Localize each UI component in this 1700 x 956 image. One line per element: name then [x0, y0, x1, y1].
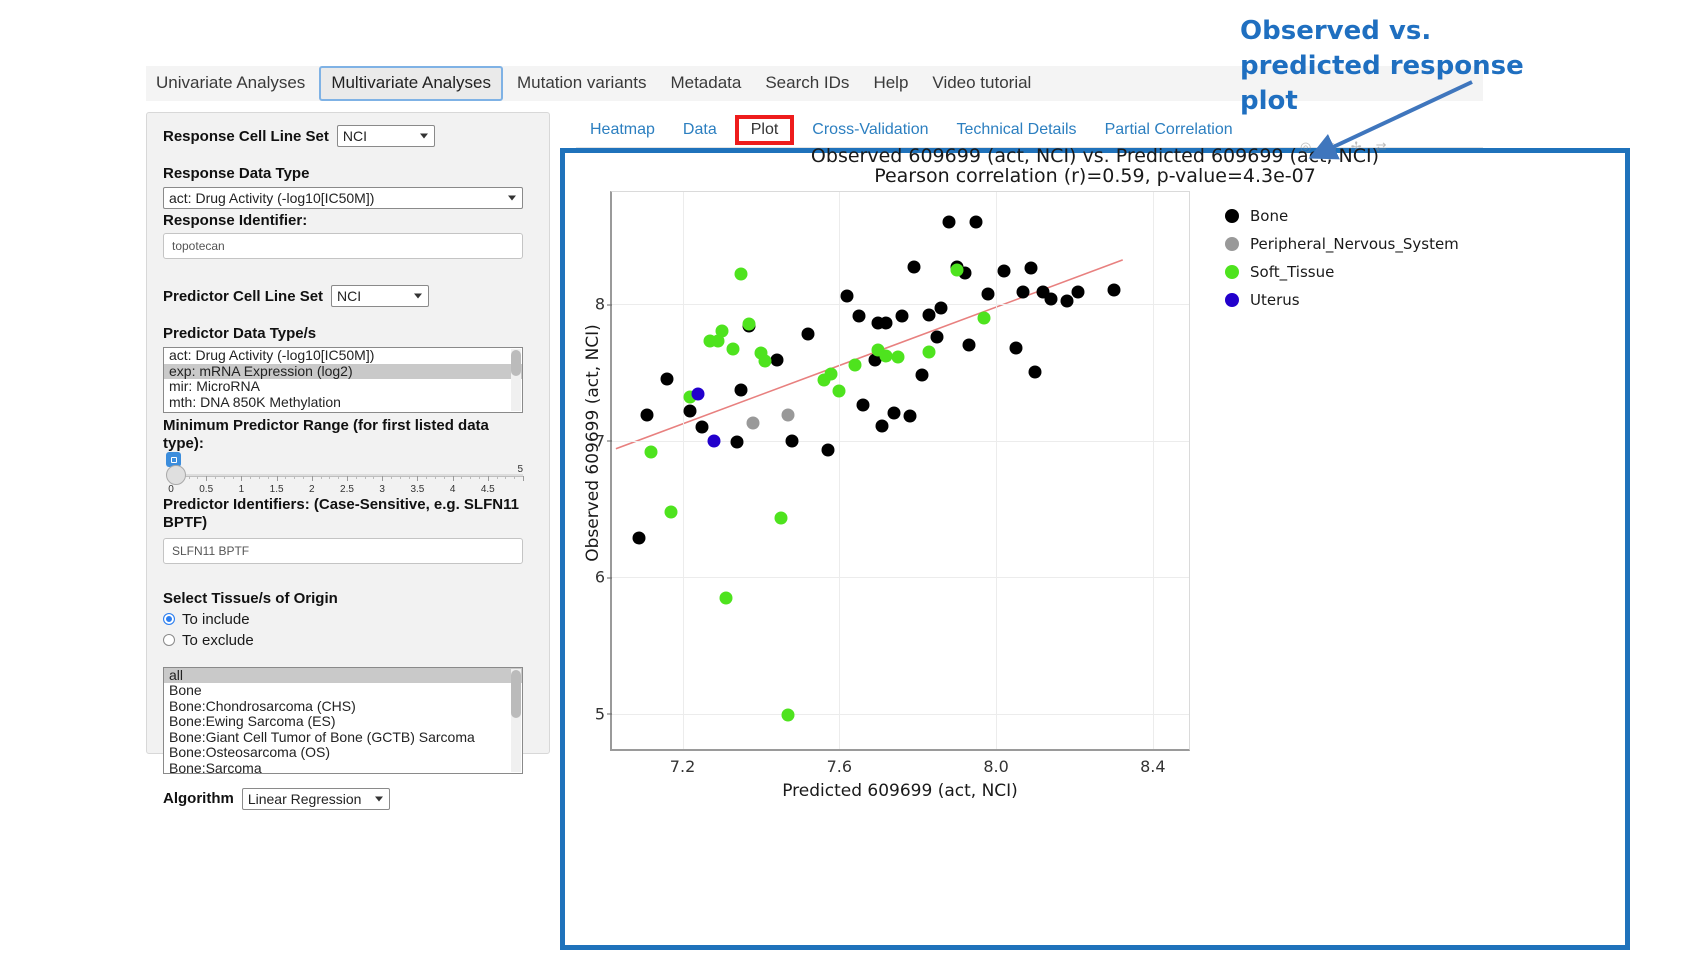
slider-minor-tick [461, 476, 462, 479]
legend-marker-icon [1225, 237, 1239, 251]
slider-minor-tick [514, 476, 515, 479]
subtab-heatmap[interactable]: Heatmap [576, 118, 669, 142]
slider-minor-tick [215, 476, 216, 479]
tissue-option[interactable]: Bone:Chondrosarcoma (CHS) [164, 699, 522, 715]
plot-area: ◎ ◉ ✢ ⇄ Observed 609699 (act, NCI) vs. P… [565, 153, 1625, 945]
scatter-point-uterus[interactable] [707, 434, 720, 447]
gridline-horizontal [612, 304, 1189, 305]
y-axis-label: Observed 609699 (act, NCI) [583, 233, 603, 653]
slider-minor-tick [400, 476, 401, 479]
algorithm-select[interactable]: Linear Regression [242, 788, 390, 810]
scatter-point-soft_tissue[interactable] [727, 343, 740, 356]
gridline-vertical [683, 192, 684, 749]
algorithm-row: Algorithm Linear Regression [163, 788, 533, 810]
slider-tick-label: 0 [168, 484, 174, 495]
scatter-point-bone[interactable] [935, 302, 948, 315]
scatter-point-soft_tissue[interactable] [892, 351, 905, 364]
x-axis-label: Predicted 609699 (act, NCI) [610, 781, 1190, 801]
nav-tab-multivariate-analyses[interactable]: Multivariate Analyses [319, 66, 503, 100]
nav-tab-mutation-variants[interactable]: Mutation variants [507, 68, 656, 98]
slider-end-label: 5 [517, 464, 523, 475]
scatter-point-soft_tissue[interactable] [715, 325, 728, 338]
scatter-point-soft_tissue[interactable] [719, 591, 732, 604]
scatter-point-soft_tissue[interactable] [735, 267, 748, 280]
subtab-partial-correlation[interactable]: Partial Correlation [1091, 118, 1247, 142]
scatter-point-soft_tissue[interactable] [833, 385, 846, 398]
plot-axes: 7.27.68.08.45678 [610, 191, 1190, 751]
slider-minor-tick [497, 476, 498, 479]
slider-minor-tick [294, 476, 295, 479]
nav-tab-metadata[interactable]: Metadata [660, 68, 751, 98]
response-cell-line-set-select[interactable]: NCI [337, 125, 435, 147]
scatter-point-bone[interactable] [856, 399, 869, 412]
tissue-option[interactable]: all [164, 668, 522, 684]
response-data-type-select[interactable]: act: Drug Activity (-log10[IC50M]) [163, 187, 523, 209]
subtab-plot[interactable]: Plot [735, 115, 795, 145]
scatter-point-soft_tissue[interactable] [923, 345, 936, 358]
app-root: Univariate AnalysesMultivariate Analyses… [0, 0, 1700, 956]
slider-tick [417, 476, 418, 481]
gridline-vertical [839, 192, 840, 749]
scatter-point-bone[interactable] [970, 216, 983, 229]
predictor-data-type-option[interactable]: act: Drug Activity (-log10[IC50M]) [164, 348, 522, 364]
tissue-radio-group: To includeTo exclude [163, 611, 533, 649]
predictor-identifiers-input[interactable] [163, 538, 523, 564]
x-axis-tick-label: 7.6 [827, 749, 852, 776]
scatter-point-bone[interactable] [915, 369, 928, 382]
predictor-cell-line-set-value: NCI [337, 288, 361, 304]
radio-icon[interactable] [163, 634, 175, 646]
slider-tick [488, 476, 489, 481]
scatter-point-bone[interactable] [1072, 285, 1085, 298]
slider-tick-label: 2.5 [340, 484, 354, 495]
scatter-point-bone[interactable] [696, 420, 709, 433]
slider-minor-tick [259, 476, 260, 479]
algorithm-label: Algorithm [163, 790, 234, 807]
slider-tick [206, 476, 207, 481]
response-data-type-label: Response Data Type [163, 165, 533, 182]
slider-minor-tick [479, 476, 480, 479]
tissue-listbox[interactable]: allBoneBone:Chondrosarcoma (CHS)Bone:Ewi… [163, 667, 523, 774]
tissue-scrollbar-thumb[interactable] [511, 670, 521, 718]
slider-tick-label: 4 [450, 484, 456, 495]
tissue-radio-to-include[interactable]: To include [163, 611, 533, 628]
tissue-option[interactable]: Bone:Ewing Sarcoma (ES) [164, 714, 522, 730]
scatter-point-bone[interactable] [943, 216, 956, 229]
scatter-point-peripheral_nervous_system[interactable] [782, 408, 795, 421]
slider-minor-tick [391, 476, 392, 479]
slider-minor-tick [224, 476, 225, 479]
gridline-horizontal [612, 577, 1189, 578]
slider-minor-tick [435, 476, 436, 479]
predictor-data-types-label: Predictor Data Type/s [163, 325, 533, 342]
slider-tick-label: 2 [309, 484, 315, 495]
predictor-identifiers-label: Predictor Identifiers: (Case-Sensitive, … [163, 496, 533, 531]
tissue-option[interactable]: Bone:Osteosarcoma (OS) [164, 745, 522, 761]
slider-minor-tick [444, 476, 445, 479]
slider-minor-tick [505, 476, 506, 479]
scatter-point-bone[interactable] [684, 404, 697, 417]
scatter-point-bone[interactable] [770, 354, 783, 367]
scatter-point-bone[interactable] [841, 289, 854, 302]
gridline-horizontal [612, 714, 1189, 715]
tissue-of-origin-label: Select Tissue/s of Origin [163, 590, 533, 607]
scatter-point-soft_tissue[interactable] [743, 318, 756, 331]
plot-legend: BonePeripheral_Nervous_SystemSoft_Tissue… [1225, 205, 1459, 317]
radio-label: To include [182, 611, 250, 628]
scatter-point-soft_tissue[interactable] [664, 505, 677, 518]
scatter-point-soft_tissue[interactable] [645, 445, 658, 458]
scatter-point-bone[interactable] [660, 373, 673, 386]
slider-tick-label: 0.5 [199, 484, 213, 495]
predictor-cell-line-set-label: Predictor Cell Line Set [163, 288, 323, 305]
slider-minor-tick [409, 476, 410, 479]
scatter-point-uterus[interactable] [692, 388, 705, 401]
legend-item-peripheral_nervous_system[interactable]: Peripheral_Nervous_System [1225, 233, 1459, 255]
response-cell-line-set-row: Response Cell Line Set NCI [163, 125, 533, 147]
slider-minor-tick [470, 476, 471, 479]
response-data-type-value: act: Drug Activity (-log10[IC50M]) [169, 190, 374, 206]
scatter-point-bone[interactable] [1009, 341, 1022, 354]
slider-tick [277, 476, 278, 481]
subtab-data[interactable]: Data [669, 118, 731, 142]
listbox-scrollbar-thumb[interactable] [511, 350, 521, 376]
scatter-point-bone[interactable] [931, 330, 944, 343]
x-axis-tick-label: 8.4 [1140, 749, 1165, 776]
slider-minor-tick [426, 476, 427, 479]
annotation-arrow-icon [1300, 78, 1480, 168]
tissue-option[interactable]: Bone [164, 683, 522, 699]
chevron-down-icon [414, 294, 422, 299]
slider-minor-tick [365, 476, 366, 479]
scatter-point-soft_tissue[interactable] [848, 359, 861, 372]
scatter-point-bone[interactable] [876, 419, 889, 432]
predictor-data-type-listbox[interactable]: act: Drug Activity (-log10[IC50M])exp: m… [163, 347, 523, 413]
scatter-point-bone[interactable] [852, 310, 865, 323]
response-cell-line-set-value: NCI [343, 128, 367, 144]
min-predictor-range-slider[interactable]: 00.511.522.533.544.5 5 [163, 452, 523, 496]
gridline-vertical [996, 192, 997, 749]
scatter-point-soft_tissue[interactable] [774, 512, 787, 525]
plot-container: ◎ ◉ ✢ ⇄ Observed 609699 (act, NCI) vs. P… [560, 148, 1630, 950]
scatter-point-bone[interactable] [907, 261, 920, 274]
min-predictor-range-label: Minimum Predictor Range (for first liste… [163, 417, 533, 452]
scatter-point-bone[interactable] [997, 265, 1010, 278]
legend-label: Peripheral_Nervous_System [1250, 235, 1459, 253]
radio-icon[interactable] [163, 613, 175, 625]
slider-minor-tick [356, 476, 357, 479]
scatter-point-soft_tissue[interactable] [758, 355, 771, 368]
legend-label: Soft_Tissue [1250, 263, 1334, 281]
slider-minor-tick [373, 476, 374, 479]
nav-tab-video-tutorial[interactable]: Video tutorial [922, 68, 1041, 98]
slider-minor-tick [233, 476, 234, 479]
slider-minor-tick [329, 476, 330, 479]
scatter-point-bone[interactable] [1025, 262, 1038, 275]
slider-minor-tick [268, 476, 269, 479]
legend-item-uterus[interactable]: Uterus [1225, 289, 1459, 311]
slider-minor-tick [285, 476, 286, 479]
scatter-point-bone[interactable] [633, 531, 646, 544]
legend-label: Uterus [1250, 291, 1300, 309]
scatter-point-bone[interactable] [1029, 366, 1042, 379]
subtab-cross-validation[interactable]: Cross-Validation [798, 118, 942, 142]
slider-tick [523, 476, 524, 481]
radio-label: To exclude [182, 632, 254, 649]
scatter-point-bone[interactable] [801, 328, 814, 341]
slider-minor-tick [321, 476, 322, 479]
slider-tick [382, 476, 383, 481]
tissue-option[interactable]: Bone:Giant Cell Tumor of Bone (GCTB) Sar… [164, 730, 522, 746]
algorithm-value: Linear Regression [248, 791, 362, 807]
response-cell-line-set-label: Response Cell Line Set [163, 128, 329, 145]
scatter-point-bone[interactable] [880, 317, 893, 330]
subtab-technical-details[interactable]: Technical Details [943, 118, 1091, 142]
scatter-point-bone[interactable] [1107, 284, 1120, 297]
x-axis-tick-label: 7.2 [670, 749, 695, 776]
tissue-option[interactable]: Bone:Sarcoma [164, 761, 522, 774]
plot-subtitle: Pearson correlation (r)=0.59, p-value=4.… [565, 165, 1625, 187]
slider-minor-tick [303, 476, 304, 479]
predictor-data-type-option[interactable]: mir: MicroRNA [164, 379, 522, 395]
scatter-point-bone[interactable] [731, 435, 744, 448]
scatter-point-soft_tissue[interactable] [950, 263, 963, 276]
scatter-point-bone[interactable] [923, 308, 936, 321]
slider-minor-tick [250, 476, 251, 479]
predictor-data-type-option[interactable]: mth: DNA 850K Methylation [164, 395, 522, 411]
scatter-point-bone[interactable] [821, 444, 834, 457]
scatter-point-bone[interactable] [786, 434, 799, 447]
scatter-point-soft_tissue[interactable] [978, 311, 991, 324]
legend-marker-icon [1225, 209, 1239, 223]
nav-tab-search-ids[interactable]: Search IDs [755, 68, 859, 98]
gridline-horizontal [612, 441, 1189, 442]
y-axis-tick-label: 5 [595, 704, 612, 723]
tissue-radio-to-exclude[interactable]: To exclude [163, 632, 533, 649]
scatter-point-bone[interactable] [641, 408, 654, 421]
slider-minor-tick [338, 476, 339, 479]
scatter-point-bone[interactable] [896, 310, 909, 323]
regression-fit-line [612, 192, 1189, 749]
slider-tick [312, 476, 313, 481]
analysis-options-panel: Response Cell Line Set NCI Response Data… [146, 112, 550, 754]
slider-minor-tick [197, 476, 198, 479]
slider-ticks [171, 476, 523, 484]
legend-item-soft_tissue[interactable]: Soft_Tissue [1225, 261, 1459, 283]
chevron-down-icon [508, 196, 516, 201]
slider-tick-label: 1 [239, 484, 245, 495]
scatter-point-soft_tissue[interactable] [825, 367, 838, 380]
slider-tick-label: 3 [379, 484, 385, 495]
scatter-point-soft_tissue[interactable] [782, 709, 795, 722]
legend-item-bone[interactable]: Bone [1225, 205, 1459, 227]
slider-tick [347, 476, 348, 481]
response-identifier-input[interactable] [163, 233, 523, 259]
slider-tick [453, 476, 454, 481]
nav-tab-univariate-analyses[interactable]: Univariate Analyses [146, 68, 315, 98]
scatter-point-bone[interactable] [1060, 295, 1073, 308]
scatter-point-bone[interactable] [888, 407, 901, 420]
scatter-point-bone[interactable] [903, 410, 916, 423]
legend-marker-icon [1225, 265, 1239, 279]
slider-tick-label: 3.5 [410, 484, 424, 495]
response-identifier-label: Response Identifier: [163, 212, 533, 229]
slider-tick [241, 476, 242, 481]
scatter-point-bone[interactable] [962, 338, 975, 351]
slider-tick-labels: 00.511.522.533.544.5 [163, 484, 523, 498]
chevron-down-icon [375, 796, 383, 801]
legend-label: Bone [1250, 207, 1288, 225]
scatter-point-bone[interactable] [982, 288, 995, 301]
legend-marker-icon [1225, 293, 1239, 307]
slider-tick-label: 1.5 [270, 484, 284, 495]
gridline-vertical [1153, 192, 1154, 749]
scatter-point-bone[interactable] [1044, 292, 1057, 305]
slider-tick-label: 4.5 [481, 484, 495, 495]
predictor-cell-line-set-row: Predictor Cell Line Set NCI [163, 285, 533, 307]
scatter-point-bone[interactable] [1017, 285, 1030, 298]
slider-minor-tick [189, 476, 190, 479]
nav-tab-help[interactable]: Help [863, 68, 918, 98]
scatter-point-bone[interactable] [735, 384, 748, 397]
x-axis-tick-label: 8.0 [983, 749, 1008, 776]
predictor-data-type-option[interactable]: exp: mRNA Expression (log2) [164, 364, 522, 380]
chevron-down-icon [420, 134, 428, 139]
scatter-point-peripheral_nervous_system[interactable] [747, 416, 760, 429]
predictor-cell-line-set-select[interactable]: NCI [331, 285, 429, 307]
